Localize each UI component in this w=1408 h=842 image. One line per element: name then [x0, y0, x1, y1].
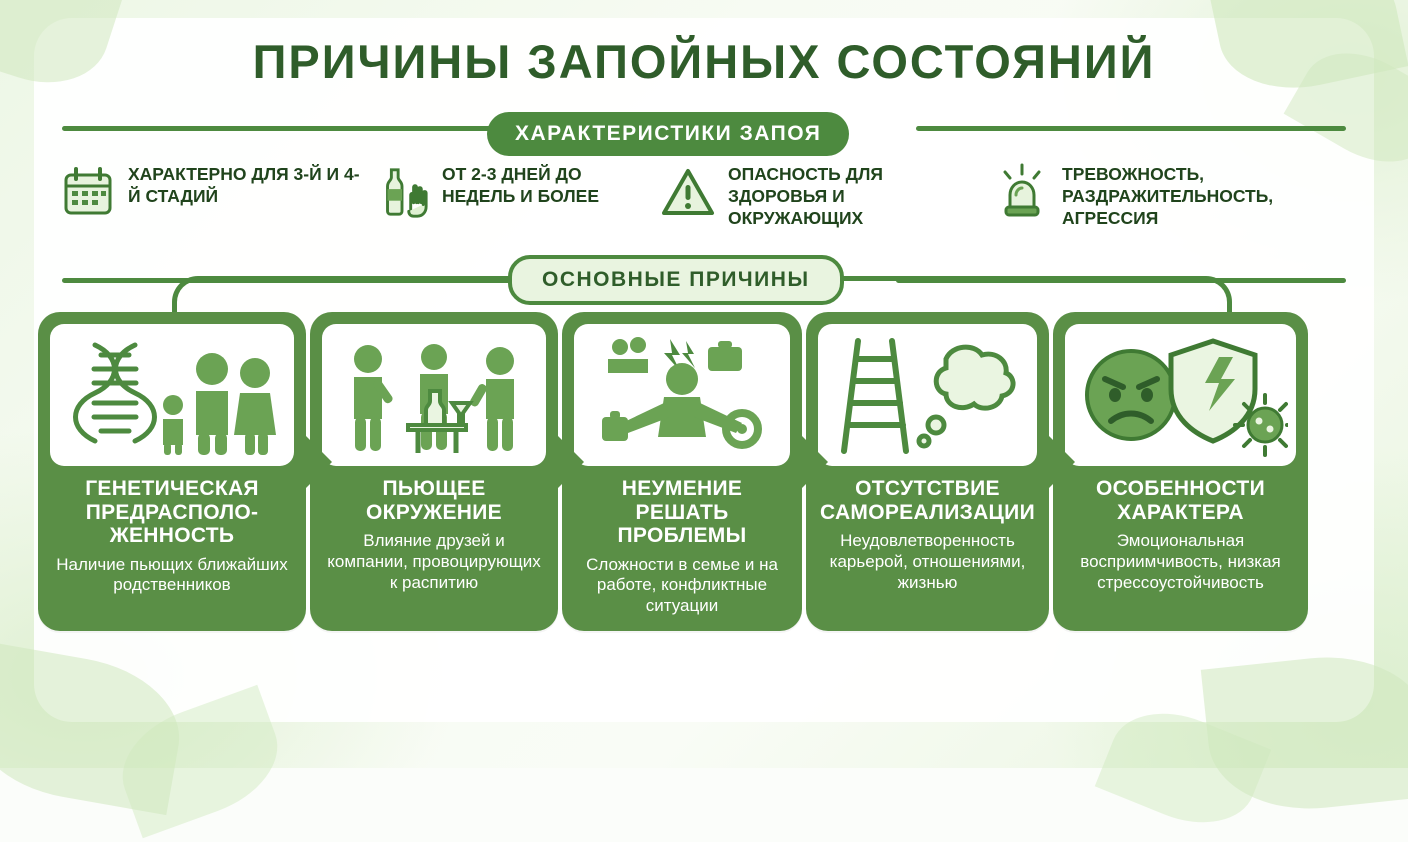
alarm-light-icon	[994, 160, 1050, 224]
characteristic-item: ОТ 2-3 ДНЕЙ ДО НЕДЕЛЬ И БОЛЕЕ	[374, 160, 646, 230]
cause-body: Влияние друзей и компании, провоцирующих…	[322, 531, 546, 593]
characteristic-label: ТРЕВОЖНОСТЬ, РАЗДРАЖИТЕЛЬНОСТЬ, АГРЕССИЯ	[1062, 160, 1294, 230]
cause-card-problems[interactable]: НЕУМЕНИЕ РЕШАТЬ ПРОБЛЕМЫ Сложности в сем…	[562, 312, 802, 631]
divider-left	[62, 126, 492, 131]
cause-heading: ГЕНЕТИЧЕСКАЯ ПРЕДРАСПОЛО-ЖЕННОСТЬ	[50, 477, 294, 548]
characteristic-item: ТРЕВОЖНОСТЬ, РАЗДРАЖИТЕЛЬНОСТЬ, АГРЕССИЯ	[994, 160, 1294, 230]
cause-card-selfrealization[interactable]: ОТСУТСТВИЕ САМОРЕАЛИЗАЦИИ Неудовлетворен…	[806, 312, 1049, 631]
cause-heading: ПЬЮЩЕЕ ОКРУЖЕНИЕ	[322, 477, 546, 524]
cause-body: Неудовлетворенность карьерой, отношениям…	[818, 531, 1037, 593]
cause-body: Наличие пьющих ближайших родственников	[50, 555, 294, 596]
cause-card-character[interactable]: ОСОБЕННОСТИ ХАРАКТЕРА Эмоциональная восп…	[1053, 312, 1308, 631]
characteristic-label: ОПАСНОСТЬ ДЛЯ ЗДОРОВЬЯ И ОКРУЖАЮЩИХ	[728, 160, 980, 230]
cause-body: Эмоциональная восприимчивость, низкая ст…	[1065, 531, 1296, 593]
divider-right	[916, 126, 1346, 131]
flow-arrow	[1049, 436, 1075, 488]
stressed-person-icon	[574, 324, 790, 466]
characteristic-label: ХАРАКТЕРНО ДЛЯ 3-Й И 4-Й СТАДИЙ	[128, 160, 360, 208]
bottle-hand-icon	[374, 160, 430, 224]
drinking-company-icon	[322, 324, 546, 466]
calendar-icon	[60, 160, 116, 224]
page-title: ПРИЧИНЫ ЗАПОЙНЫХ СОСТОЯНИЙ	[0, 34, 1408, 89]
characteristics-pill: ХАРАКТЕРИСТИКИ ЗАПОЯ	[487, 112, 849, 156]
cause-body: Сложности в семье и на работе, конфликтн…	[574, 555, 790, 617]
flow-arrow	[802, 436, 828, 488]
angry-face-shield-icon	[1065, 324, 1296, 466]
characteristic-item: ХАРАКТЕРНО ДЛЯ 3-Й И 4-Й СТАДИЙ	[60, 160, 360, 230]
flow-arrow	[558, 436, 584, 488]
warning-triangle-icon	[660, 160, 716, 224]
cause-heading: ОТСУТСТВИЕ САМОРЕАЛИЗАЦИИ	[818, 477, 1037, 524]
characteristic-label: ОТ 2-3 ДНЕЙ ДО НЕДЕЛЬ И БОЛЕЕ	[442, 160, 646, 208]
dna-family-icon	[50, 324, 294, 466]
cause-card-genetics[interactable]: ГЕНЕТИЧЕСКАЯ ПРЕДРАСПОЛО-ЖЕННОСТЬ Наличи…	[38, 312, 306, 631]
ladder-thought-icon	[818, 324, 1037, 466]
cause-card-environment[interactable]: ПЬЮЩЕЕ ОКРУЖЕНИЕ Влияние друзей и компан…	[310, 312, 558, 631]
characteristic-item: ОПАСНОСТЬ ДЛЯ ЗДОРОВЬЯ И ОКРУЖАЮЩИХ	[660, 160, 980, 230]
characteristics-row: ХАРАКТЕРНО ДЛЯ 3-Й И 4-Й СТАДИЙ ОТ 2-3 Д…	[60, 160, 1368, 230]
cause-heading: ОСОБЕННОСТИ ХАРАКТЕРА	[1065, 477, 1296, 524]
causes-row: ГЕНЕТИЧЕСКАЯ ПРЕДРАСПОЛО-ЖЕННОСТЬ Наличи…	[38, 312, 1378, 631]
flow-arrow	[306, 436, 332, 488]
cause-heading: НЕУМЕНИЕ РЕШАТЬ ПРОБЛЕМЫ	[574, 477, 790, 548]
causes-pill: ОСНОВНЫЕ ПРИЧИНЫ	[508, 255, 844, 305]
